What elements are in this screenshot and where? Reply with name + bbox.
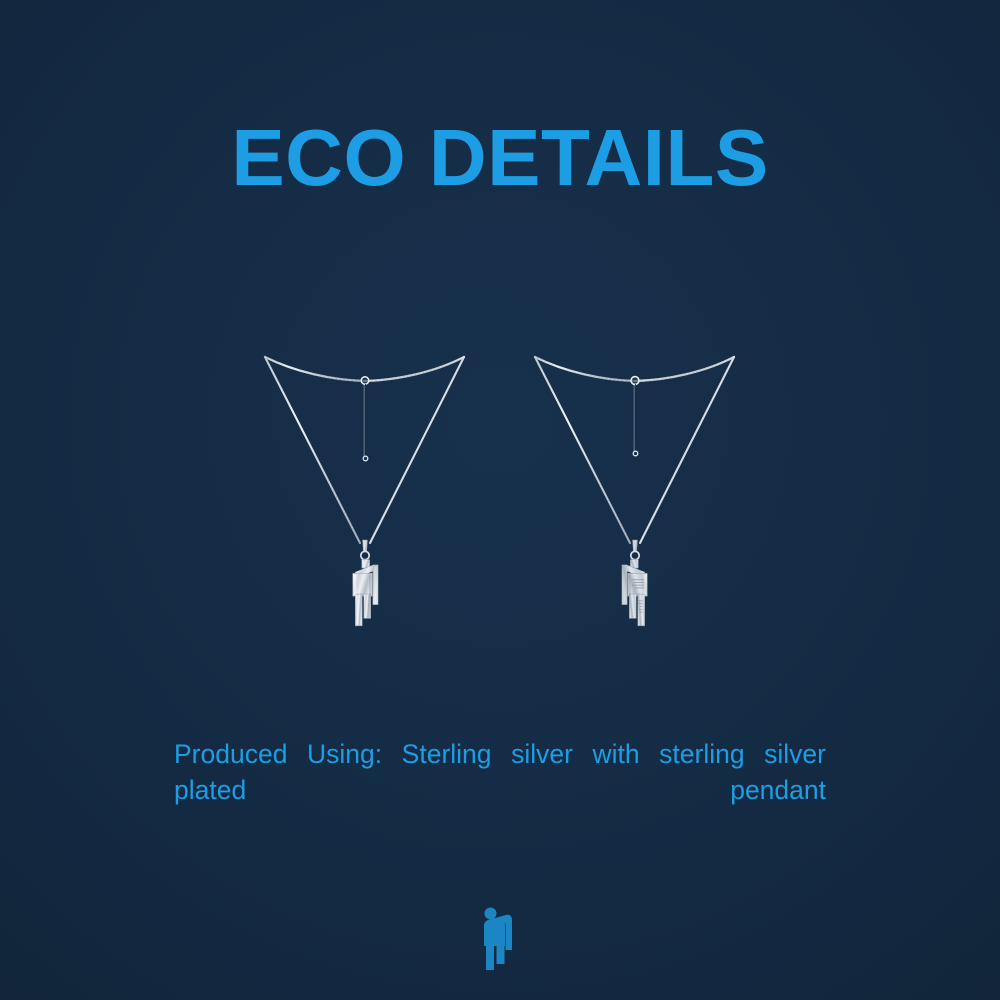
chain-upper-left	[535, 357, 635, 381]
chain-v-left	[535, 357, 630, 543]
blohsh-logo	[478, 906, 522, 972]
pendant-bail-icon	[361, 540, 369, 560]
product-image-necklace-front	[240, 300, 490, 680]
chain-v-left	[265, 357, 360, 543]
chain-upper-right	[635, 357, 734, 381]
eco-details-page: ECO DETAILS	[0, 0, 1000, 1000]
pendant-bail-icon	[631, 540, 639, 560]
caption-text: Produced Using: Sterling silver with ste…	[174, 736, 826, 844]
chain-upper-right	[365, 357, 464, 381]
extender-chain-icon	[633, 384, 638, 456]
chain-upper-left	[265, 357, 365, 381]
blohsh-pendant-icon	[622, 560, 647, 626]
page-title: ECO DETAILS	[0, 118, 1000, 198]
blohsh-pendant-icon	[353, 560, 378, 626]
product-image-necklace-back	[510, 300, 760, 680]
chain-v-right	[370, 357, 464, 543]
extender-chain-icon	[363, 384, 368, 461]
product-image-area	[0, 300, 1000, 680]
chain-v-right	[640, 357, 734, 543]
